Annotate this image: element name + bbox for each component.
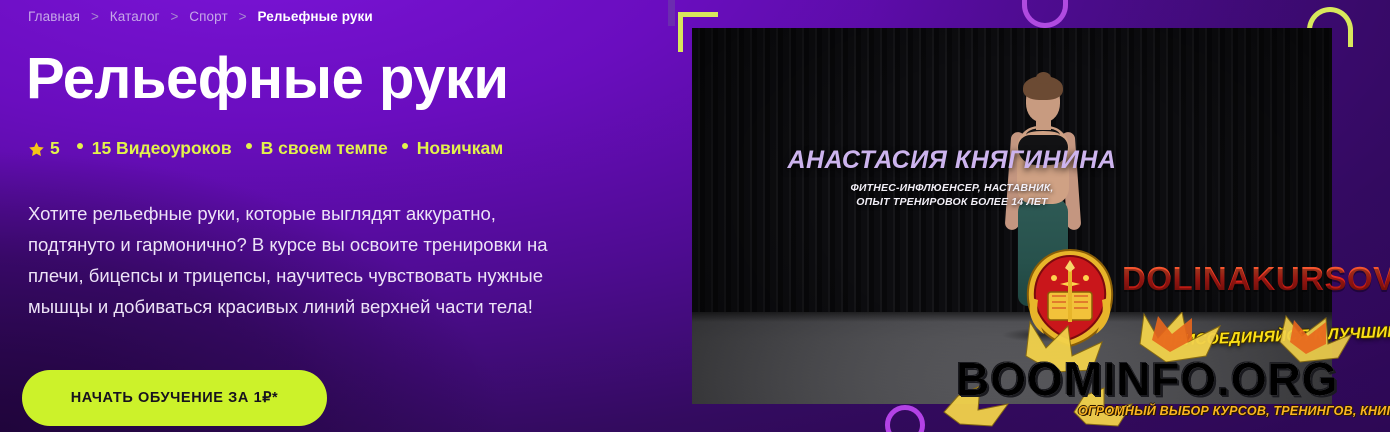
- breadcrumb-item-home[interactable]: Главная: [28, 9, 80, 24]
- breadcrumb: Главная > Каталог > Спорт > Рельефные ру…: [28, 9, 373, 24]
- breadcrumb-separator: >: [170, 9, 178, 24]
- bullet-dot-icon: [77, 143, 83, 149]
- meta-item-level: Новичкам: [402, 138, 503, 159]
- instructor-name: АНАСТАСИЯ КНЯГИНИНА: [692, 146, 1212, 175]
- star-icon: [28, 141, 45, 158]
- breadcrumb-item-sport[interactable]: Спорт: [189, 9, 227, 24]
- meta-item-pace: В своем темпе: [246, 138, 388, 159]
- meta-item-label: В своем темпе: [261, 138, 388, 159]
- instructor-subtitle-line-2: ОПЫТ ТРЕНИРОВОК БОЛЕЕ 14 ЛЕТ: [692, 195, 1212, 209]
- meta-item-lessons: 15 Видеоуроков: [77, 138, 232, 159]
- rating-value: 5: [50, 138, 60, 159]
- meta-item-label: 15 Видеоуроков: [92, 138, 232, 159]
- breadcrumb-separator: >: [91, 9, 99, 24]
- instructor-subtitle: ФИТНЕС-ИНФЛЮЕНСЕР, НАСТАВНИК, ОПЫТ ТРЕНИ…: [692, 181, 1212, 209]
- instructor-subtitle-line-1: ФИТНЕС-ИНФЛЮЕНСЕР, НАСТАВНИК,: [692, 181, 1212, 195]
- bullet-dot-icon: [402, 143, 408, 149]
- bullet-dot-icon: [246, 143, 252, 149]
- watermark-boominfo-tagline: ОГРОМНЫЙ ВЫБОР КУРСОВ, ТРЕНИНГОВ, КНИГ: [1078, 404, 1390, 418]
- video-frame: АНАСТАСИЯ КНЯГИНИНА ФИТНЕС-ИНФЛЮЕНСЕР, Н…: [692, 28, 1332, 404]
- course-description: Хотите рельефные руки, которые выглядят …: [28, 198, 568, 322]
- breadcrumb-item-catalog[interactable]: Каталог: [110, 9, 160, 24]
- circle-outline-decoration: [885, 405, 925, 432]
- hero-content-column: Главная > Каталог > Спорт > Рельефные ру…: [28, 0, 668, 432]
- start-course-button[interactable]: НАЧАТЬ ОБУЧЕНИЕ ЗА 1₽*: [22, 370, 327, 426]
- breadcrumb-item-current: Рельефные руки: [257, 9, 372, 24]
- hero-banner: Главная > Каталог > Спорт > Рельефные ру…: [0, 0, 1390, 432]
- side-bar-decoration: [668, 0, 675, 26]
- course-meta-row: 5 15 Видеоуроков В своем темпе Новичкам: [28, 138, 503, 159]
- breadcrumb-separator: >: [239, 9, 247, 24]
- page-title: Рельефные руки: [26, 50, 509, 108]
- meta-item-label: Новичкам: [417, 138, 503, 159]
- course-video-preview[interactable]: АНАСТАСИЯ КНЯГИНИНА ФИТНЕС-ИНФЛЮЕНСЕР, Н…: [692, 28, 1332, 404]
- instructor-figure: [988, 80, 1098, 342]
- u-curve-decoration: [1022, 0, 1068, 28]
